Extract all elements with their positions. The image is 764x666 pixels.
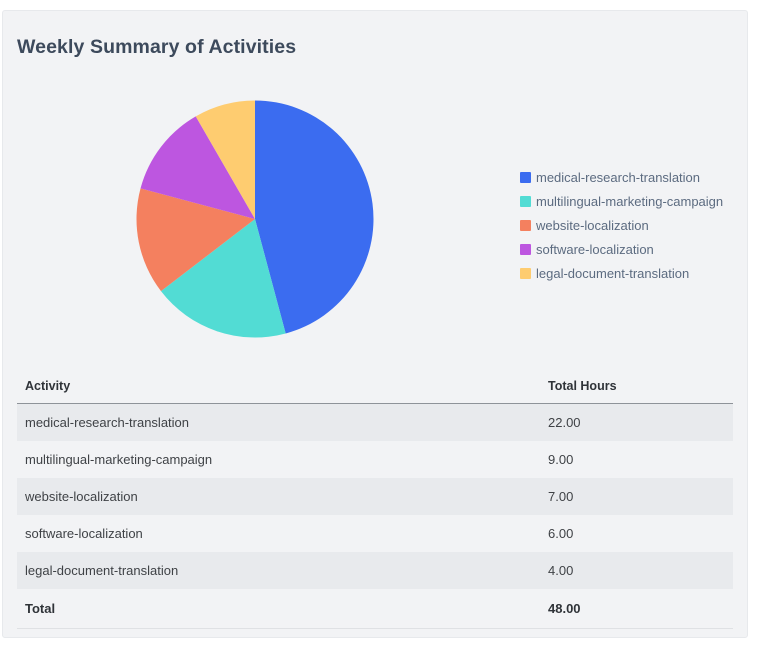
table-body: medical-research-translation22.00multili… (17, 404, 733, 629)
chart-region: medical-research-translation multilingua… (3, 71, 747, 361)
legend-item-label: legal-document-translation (536, 267, 689, 280)
cell-total-hours: 7.00 (540, 478, 733, 515)
cell-activity: website-localization (17, 478, 540, 515)
legend-swatch-icon (520, 268, 531, 279)
cell-total-hours: 9.00 (540, 441, 733, 478)
cell-total-hours: 4.00 (540, 552, 733, 589)
cell-activity: legal-document-translation (17, 552, 540, 589)
summary-table: Activity Total Hours medical-research-tr… (17, 373, 733, 629)
table-row: website-localization7.00 (17, 478, 733, 515)
table-total-row: Total48.00 (17, 589, 733, 629)
legend-swatch-icon (520, 244, 531, 255)
chart-legend: medical-research-translation multilingua… (520, 165, 748, 285)
table-row: software-localization6.00 (17, 515, 733, 552)
total-label: Total (17, 589, 540, 629)
legend-item-legal-document-translation[interactable]: legal-document-translation (520, 261, 748, 285)
legend-item-label: multilingual-marketing-campaign (536, 195, 723, 208)
cell-total-hours: 22.00 (540, 404, 733, 442)
column-header-total-hours: Total Hours (540, 373, 733, 404)
pie-chart-svg (135, 99, 375, 339)
legend-item-software-localization[interactable]: software-localization (520, 237, 748, 261)
cell-activity: software-localization (17, 515, 540, 552)
table-row: legal-document-translation4.00 (17, 552, 733, 589)
cell-activity: multilingual-marketing-campaign (17, 441, 540, 478)
screenshot-viewport: Weekly Summary of Activities medical-res… (0, 0, 764, 666)
legend-item-multilingual-marketing-campaign[interactable]: multilingual-marketing-campaign (520, 189, 748, 213)
total-value: 48.00 (540, 589, 733, 629)
legend-swatch-icon (520, 196, 531, 207)
column-header-activity: Activity (17, 373, 540, 404)
legend-item-medical-research-translation[interactable]: medical-research-translation (520, 165, 748, 189)
legend-swatch-icon (520, 172, 531, 183)
page-title: Weekly Summary of Activities (17, 36, 296, 59)
legend-swatch-icon (520, 220, 531, 231)
cell-total-hours: 6.00 (540, 515, 733, 552)
summary-card: Weekly Summary of Activities medical-res… (2, 10, 748, 638)
legend-item-label: medical-research-translation (536, 171, 700, 184)
legend-item-label: software-localization (536, 243, 654, 256)
table-header-row: Activity Total Hours (17, 373, 733, 404)
summary-table-wrapper: Activity Total Hours medical-research-tr… (17, 373, 733, 629)
table-row: multilingual-marketing-campaign9.00 (17, 441, 733, 478)
cell-activity: medical-research-translation (17, 404, 540, 442)
pie-chart (135, 99, 375, 339)
table-header: Activity Total Hours (17, 373, 733, 404)
table-row: medical-research-translation22.00 (17, 404, 733, 442)
legend-item-website-localization[interactable]: website-localization (520, 213, 748, 237)
legend-item-label: website-localization (536, 219, 649, 232)
